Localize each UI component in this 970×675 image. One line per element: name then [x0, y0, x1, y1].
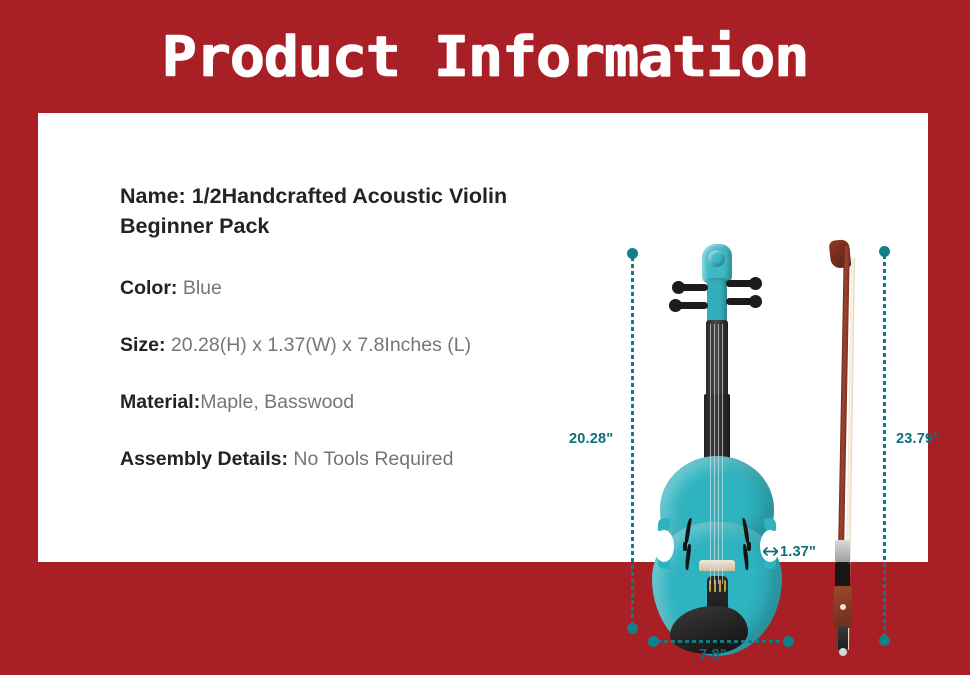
bow-illustration: [820, 240, 866, 660]
spec-label-size: Size:: [120, 334, 166, 356]
spec-value-assembly: No Tools Required: [288, 448, 453, 470]
tuning-peg: [678, 302, 708, 309]
f-hole-notch: [747, 542, 751, 551]
guide-dot: [783, 636, 794, 647]
spec-row-name: Name: 1/2Handcrafted Acoustic Violin Beg…: [120, 181, 540, 241]
tuning-peg: [726, 280, 754, 287]
violin-strings: [708, 324, 726, 584]
page-title: Product Information: [0, 27, 970, 89]
dimension-label-violin-body-width: 7.8": [699, 647, 727, 663]
spec-row-color: Color: Blue: [120, 274, 540, 302]
dimension-label-violin-height: 20.28": [569, 431, 613, 447]
dimension-label-bow-length: 23.79": [896, 431, 940, 447]
dimension-label-violin-depth: 1.37": [763, 544, 816, 560]
content-card: Name: 1/2Handcrafted Acoustic Violin Beg…: [38, 113, 928, 562]
violin-pegbox: [707, 278, 727, 324]
product-information-banner: Product Information Name: 1/2Handcrafted…: [0, 0, 970, 600]
spec-row-material: Material:Maple, Basswood: [120, 388, 540, 416]
spec-label-material: Material:: [120, 391, 200, 413]
bow-adjuster-screw: [838, 626, 848, 652]
guide-line-violin-width: [657, 640, 785, 643]
body-waist-left: [654, 530, 674, 562]
tuning-peg: [726, 298, 754, 305]
double-arrow-icon: [763, 544, 778, 560]
spec-value-size: 20.28(H) x 1.37(W) x 7.8Inches (L): [166, 334, 472, 356]
guide-line-violin-height: [631, 257, 634, 627]
bow-frog: [834, 586, 852, 628]
spec-value-material: Maple, Basswood: [200, 391, 354, 413]
guide-line-bow-length: [883, 255, 886, 639]
spec-label-assembly: Assembly Details:: [120, 448, 288, 470]
spec-value-color: Blue: [177, 277, 221, 299]
bow-grip: [835, 562, 850, 588]
dimension-label-violin-depth-text: 1.37": [780, 544, 816, 560]
spec-label-name: Name:: [120, 184, 186, 208]
guide-dot: [627, 623, 638, 634]
violin-illustration: [638, 244, 798, 656]
spec-label-color: Color:: [120, 277, 177, 299]
spec-row-assembly: Assembly Details: No Tools Required: [120, 445, 540, 473]
f-hole-notch: [683, 542, 687, 551]
spec-row-size: Size: 20.28(H) x 1.37(W) x 7.8Inches (L): [120, 331, 540, 359]
bow-winding: [835, 540, 850, 564]
tuning-peg: [680, 284, 708, 291]
spec-list: Name: 1/2Handcrafted Acoustic Violin Beg…: [120, 181, 540, 502]
product-photo: 20.28" 7.8" 1.37" 23.79": [558, 226, 966, 675]
guide-dot: [879, 635, 890, 646]
